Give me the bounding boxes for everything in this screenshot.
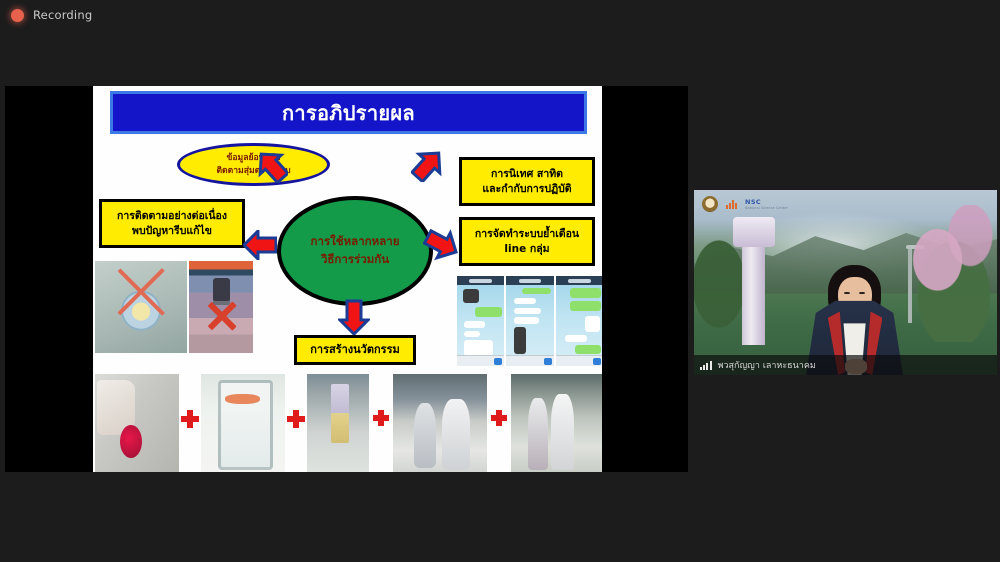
slide-title-band: การอภิปรายผล [110,91,587,134]
plus-icon [491,410,507,426]
node-continuous-follow-line2: พบปัญหารีบแก้ไข [132,224,212,238]
nsc-brand-sub: National Science Center [745,206,788,210]
slide-title: การอภิปรายผล [282,103,415,123]
arrow-up-right-icon [411,148,445,182]
arrow-right-icon [423,226,459,262]
line-chat-screenshot-1 [457,276,504,366]
red-x-icon [204,298,239,335]
arrow-up-left-icon [256,149,288,183]
node-center-line1: การใช้หลากหลาย [311,233,400,251]
node-feedback-ellipse: ข้อมูลย้อนกลับ ติดตามสุ่มตรวจสอบ [177,143,330,186]
recording-indicator: Recording [0,0,300,30]
node-line-alert-line2: line กลุ่ม [504,242,549,256]
plus-icon [373,410,389,426]
photo-bedside-kettle-rejected [189,261,253,353]
arrow-left-icon [243,230,277,260]
plus-icon [287,410,305,428]
participant-name: พวสุกัญญา เลาหะธนาคม [718,358,816,372]
nsc-logo: NSC National Science Center [745,198,788,210]
node-line-alert-box: การจัดทำระบบย้ำเตือน line กลุ่ม [459,217,595,266]
photo-specimen-cup [201,374,285,472]
photo-iv-bag [307,374,369,472]
node-center-line2: วิธีการร่วมกัน [321,251,389,269]
bars-icon [726,200,737,209]
node-continuous-follow-line1: การติดตามอย่างต่อเนื่อง [117,209,227,223]
node-supervision-line2: และกำกับการปฏิบัติ [482,182,571,196]
line-chat-screenshot-3 [556,276,602,366]
nsc-brand: NSC [745,198,761,206]
node-supervision-box: การนิเทศ สาทิต และกำกับการปฏิบัติ [459,157,595,206]
university-seal-icon [702,196,718,212]
line-chat-screenshot-2 [506,276,553,366]
background-watermark: NSC National Science Center [702,196,788,212]
signal-bars-icon [700,361,712,370]
plus-icon [181,410,199,428]
record-dot-icon [11,9,24,22]
shared-screen-area[interactable]: การอภิปรายผล ข้อมูลย้อนกลับ ติดตามสุ่มตร… [5,86,688,472]
clock-tower [742,231,765,346]
photo-food-bowl-rejected [95,261,187,353]
photo-hand-vial [95,374,179,472]
node-innovation-line1: การสร้างนวัตกรรม [310,342,399,357]
photo-ward-round-2 [511,374,602,472]
red-x-icon [110,268,173,316]
node-continuous-follow-box: การติดตามอย่างต่อเนื่อง พบปัญหารีบแก้ไข [99,199,245,248]
presentation-slide: การอภิปรายผล ข้อมูลย้อนกลับ ติดตามสุ่มตร… [93,86,602,472]
node-supervision-line1: การนิเทศ สาทิต [491,167,563,181]
node-line-alert-line1: การจัดทำระบบย้ำเตือน [475,227,579,241]
recording-label: Recording [33,8,92,22]
participant-video-tile[interactable]: NSC National Science Center พวสุกัญญา เล… [694,190,997,375]
photo-ward-round-1 [393,374,487,472]
arrow-down-icon [338,299,370,335]
zoom-meeting-window: Recording การอภิปรายผล ข้อมูลย้อนกลับ ติ… [0,0,1000,562]
line-chat-screenshots [457,276,602,366]
participant-name-bar: พวสุกัญญา เลาหะธนาคม [694,355,997,375]
node-innovation-box: การสร้างนวัตกรรม [294,335,416,365]
node-center-ellipse: การใช้หลากหลาย วิธีการร่วมกัน [277,196,433,306]
